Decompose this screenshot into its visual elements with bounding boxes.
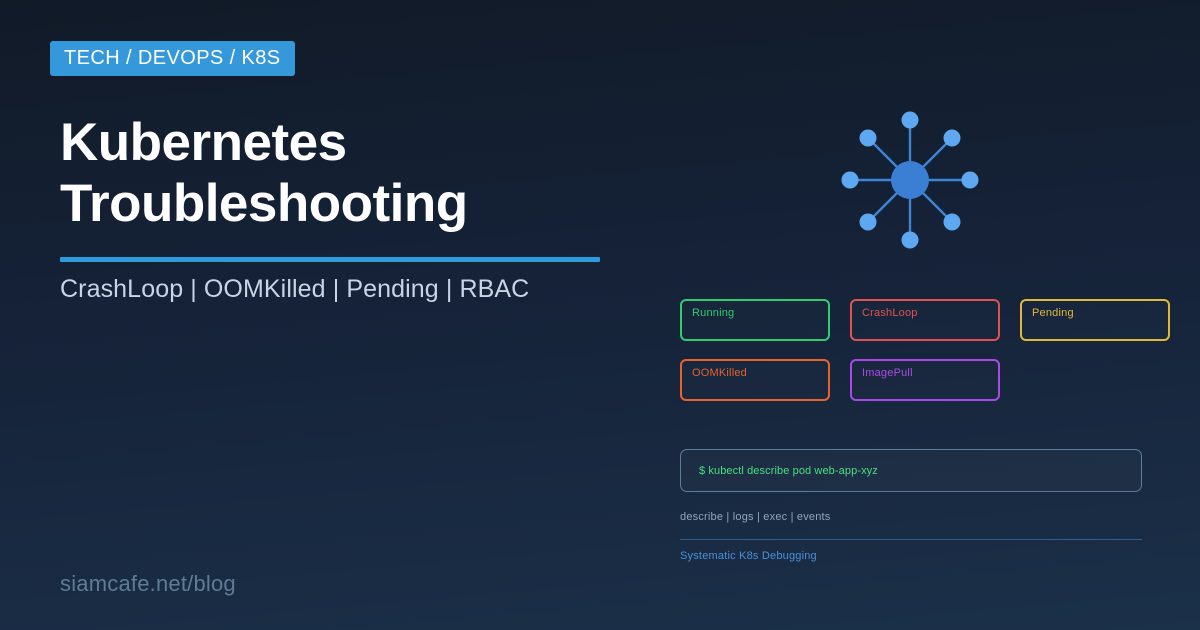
title-accent-bar <box>60 257 600 262</box>
footer-site-url[interactable]: siamcafe.net/blog <box>60 571 236 597</box>
right-visual-column: Running CrashLoop Pending OOMKilled Imag… <box>660 0 1200 630</box>
page-subtitle: CrashLoop | OOMKilled | Pending | RBAC <box>60 274 529 304</box>
status-chip-crashloop[interactable]: CrashLoop <box>850 299 1000 341</box>
status-chip-running[interactable]: Running <box>680 299 830 341</box>
status-chip-label: CrashLoop <box>862 307 918 319</box>
status-chip-imagepull[interactable]: ImagePull <box>850 359 1000 401</box>
social-card-banner: TECH / DEVOPS / K8S Kubernetes Troublesh… <box>0 0 1200 630</box>
status-chip-oomkilled[interactable]: OOMKilled <box>680 359 830 401</box>
left-content-column: TECH / DEVOPS / K8S Kubernetes Troublesh… <box>60 0 620 630</box>
hub-node <box>891 161 929 199</box>
status-chip-label: Pending <box>1032 307 1074 319</box>
cluster-node-graph-icon <box>830 100 990 260</box>
page-title-line-1: Kubernetes <box>60 112 620 173</box>
terminal-command-box[interactable]: $ kubectl describe pod web-app-xyz <box>680 449 1142 492</box>
pod-status-chip-grid: Running CrashLoop Pending OOMKilled Imag… <box>680 299 1192 401</box>
status-chip-label: Running <box>692 307 734 319</box>
status-chip-label: OOMKilled <box>692 367 747 379</box>
kubectl-subcommand-links[interactable]: describe | logs | exec | events <box>680 511 831 523</box>
terminal-command-text: $ kubectl describe pod web-app-xyz <box>699 465 878 477</box>
status-chip-pending[interactable]: Pending <box>1020 299 1170 341</box>
status-chip-label: ImagePull <box>862 367 913 379</box>
page-title: Kubernetes Troubleshooting <box>60 112 620 234</box>
page-title-line-2: Troubleshooting <box>60 173 620 234</box>
article-link[interactable]: Systematic K8s Debugging <box>680 550 817 562</box>
breadcrumb-badge[interactable]: TECH / DEVOPS / K8S <box>50 41 295 76</box>
section-divider <box>680 539 1142 540</box>
